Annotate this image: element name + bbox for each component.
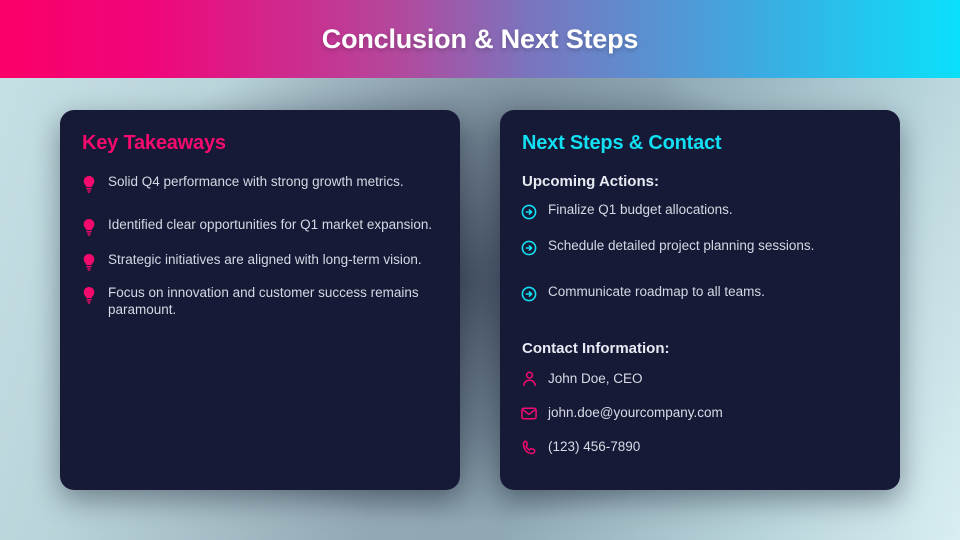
list-item: Focus on innovation and customer success… [80, 284, 434, 318]
contact-information-heading: Contact Information: [520, 340, 874, 357]
list-item[interactable]: john.doe@yourcompany.com [520, 402, 874, 422]
page-title: Conclusion & Next Steps [322, 24, 638, 55]
list-item: Identified clear opportunities for Q1 ma… [80, 216, 434, 236]
takeaway-text: Solid Q4 performance with strong growth … [108, 173, 404, 190]
arrow-circle-right-icon [520, 285, 538, 303]
lightbulb-icon [80, 175, 98, 193]
arrow-circle-right-icon [520, 203, 538, 221]
key-takeaways-title: Key Takeaways [80, 132, 434, 155]
action-text: Schedule detailed project planning sessi… [548, 237, 814, 254]
contact-list: John Doe, CEO john.doe@yourcompany.com (… [520, 368, 874, 456]
list-item: John Doe, CEO [520, 368, 874, 388]
takeaway-text: Strategic initiatives are aligned with l… [108, 251, 422, 268]
action-text: Communicate roadmap to all teams. [548, 283, 765, 300]
next-steps-title: Next Steps & Contact [520, 132, 874, 155]
list-item: Strategic initiatives are aligned with l… [80, 251, 434, 271]
contact-name: John Doe, CEO [548, 370, 643, 387]
upcoming-actions-heading: Upcoming Actions: [520, 173, 874, 190]
person-icon [520, 370, 538, 388]
takeaway-text: Identified clear opportunities for Q1 ma… [108, 216, 432, 233]
takeaway-text: Focus on innovation and customer success… [108, 284, 434, 318]
list-item: Solid Q4 performance with strong growth … [80, 173, 434, 193]
contact-email: john.doe@yourcompany.com [548, 404, 723, 421]
list-item: Communicate roadmap to all teams. [520, 283, 874, 303]
slide-header: Conclusion & Next Steps [0, 0, 960, 78]
takeaways-list: Solid Q4 performance with strong growth … [80, 173, 434, 318]
slide-canvas: Conclusion & Next Steps Key Takeaways So… [0, 0, 960, 540]
list-item: Finalize Q1 budget allocations. [520, 201, 874, 221]
list-item[interactable]: (123) 456-7890 [520, 436, 874, 456]
lightbulb-icon [80, 286, 98, 304]
list-item: Schedule detailed project planning sessi… [520, 237, 874, 257]
lightbulb-icon [80, 218, 98, 236]
contact-phone: (123) 456-7890 [548, 438, 640, 455]
key-takeaways-card: Key Takeaways Solid Q4 performance with … [60, 110, 460, 490]
action-text: Finalize Q1 budget allocations. [548, 201, 733, 218]
phone-icon [520, 438, 538, 456]
arrow-circle-right-icon [520, 239, 538, 257]
envelope-icon [520, 404, 538, 422]
lightbulb-icon [80, 253, 98, 271]
next-steps-contact-card: Next Steps & Contact Upcoming Actions: F… [500, 110, 900, 490]
actions-list: Finalize Q1 budget allocations. Schedule… [520, 201, 874, 303]
